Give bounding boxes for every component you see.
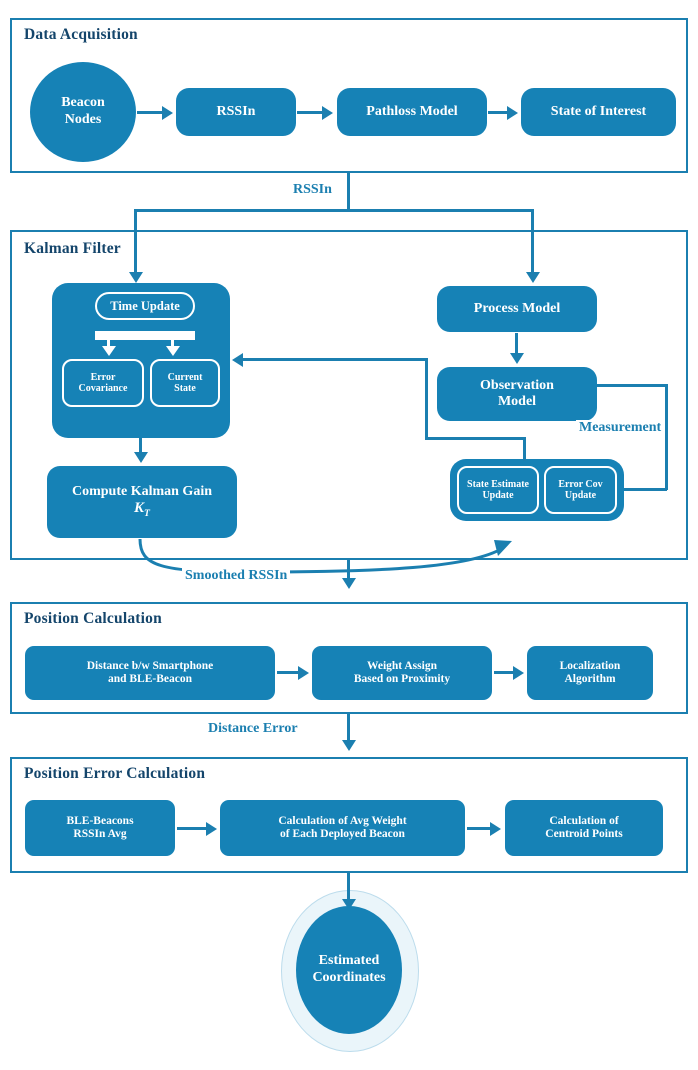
arrowhead-weight-to-localization [513,666,524,680]
state-estimate-update-line-2: Update [482,490,513,501]
node-distance-smartphone-beacon[interactable]: Distance b/w Smartphone and BLE-Beacon [25,646,275,700]
split-arrow-right [166,346,180,356]
observation-model-line-1: Observation [480,378,554,393]
compute-kalman-gain-label: Compute Kalman Gain [72,484,212,499]
section-title-position-calculation: Position Calculation [24,610,162,628]
node-estimated-coordinates[interactable]: Estimated Coordinates [296,906,402,1034]
weight-assign-line-2: Based on Proximity [354,673,450,685]
kalman-gain-subscript: T [144,508,150,519]
kalman-gain-symbol: K [134,500,144,516]
arrowhead-smoothed-rssin [342,578,356,589]
node-error-cov-update[interactable]: Error Cov Update [544,466,617,514]
weight-assign-line-1: Weight Assign [367,660,437,672]
arrowhead-distance-to-weight [298,666,309,680]
ble-beacons-line-2: RSSIn Avg [73,828,126,840]
node-avg-weight-deployed-beacon[interactable]: Calculation of Avg Weight of Each Deploy… [220,800,465,856]
ble-beacons-line-1: BLE-Beacons [66,815,133,827]
state-estimate-update-line-1: State Estimate [467,479,529,490]
node-weight-assign[interactable]: Weight Assign Based on Proximity [312,646,492,700]
localization-line-1: Localization [560,660,621,672]
distance-line-2: and BLE-Beacon [108,673,192,685]
error-covariance-line-1: Error [91,372,116,383]
edge-label-distance-error: Distance Error [205,721,301,737]
node-localization-algorithm[interactable]: Localization Algorithm [527,646,653,700]
error-cov-update-line-1: Error Cov [558,479,602,490]
node-compute-kalman-gain[interactable]: Compute Kalman Gain KT [47,466,237,538]
section-title-kalman-filter: Kalman Filter [24,240,121,258]
centroid-line-1: Calculation of [549,815,618,827]
flowchart-canvas: Data Acquisition Beacon Nodes RSSIn Path… [0,0,698,1070]
node-pathloss-model[interactable]: Pathloss Model [337,88,487,136]
edge-label-smoothed-rssin: Smoothed RSSIn [182,568,290,584]
arrowhead-avgweight-to-centroid [490,822,501,836]
current-state-line-1: Current [168,372,203,383]
centroid-line-2: Centroid Points [545,828,622,840]
edge-label-rssin: RSSIn [290,182,335,198]
node-beacon-nodes[interactable]: Beacon Nodes [30,62,136,162]
arrowhead-distance-error [342,740,356,751]
node-state-of-interest[interactable]: State of Interest [521,88,676,136]
avg-weight-line-1: Calculation of Avg Weight [278,815,406,827]
node-current-state[interactable]: Current State [150,359,220,407]
beacon-nodes-line-2: Nodes [65,112,102,127]
current-state-line-2: State [174,383,196,394]
avg-weight-line-2: of Each Deployed Beacon [280,828,405,840]
node-observation-model[interactable]: Observation Model [437,367,597,421]
node-calculation-centroid-points[interactable]: Calculation of Centroid Points [505,800,663,856]
node-ble-beacons-rssin-avg[interactable]: BLE-Beacons RSSIn Avg [25,800,175,856]
split-bar-time-update [95,331,195,340]
beacon-nodes-line-1: Beacon [61,95,105,110]
arrowhead-ble-to-avgweight [206,822,217,836]
node-rssin[interactable]: RSSIn [176,88,296,136]
section-title-data-acquisition: Data Acquisition [24,26,138,44]
split-arrow-left [102,346,116,356]
node-error-covariance[interactable]: Error Covariance [62,359,144,407]
section-title-position-error-calculation: Position Error Calculation [24,765,205,783]
observation-model-line-2: Model [498,394,536,409]
error-covariance-line-2: Covariance [79,383,128,394]
node-state-estimate-update[interactable]: State Estimate Update [457,466,539,514]
localization-line-2: Algorithm [564,673,615,685]
node-process-model[interactable]: Process Model [437,286,597,332]
estimated-coordinates-line-2: Coordinates [312,970,385,985]
edge-label-measurement: Measurement [576,420,664,436]
error-cov-update-line-2: Update [565,490,596,501]
estimated-coordinates-line-1: Estimated [319,953,380,968]
distance-line-1: Distance b/w Smartphone [87,660,214,672]
node-time-update[interactable]: Time Update [95,292,195,320]
